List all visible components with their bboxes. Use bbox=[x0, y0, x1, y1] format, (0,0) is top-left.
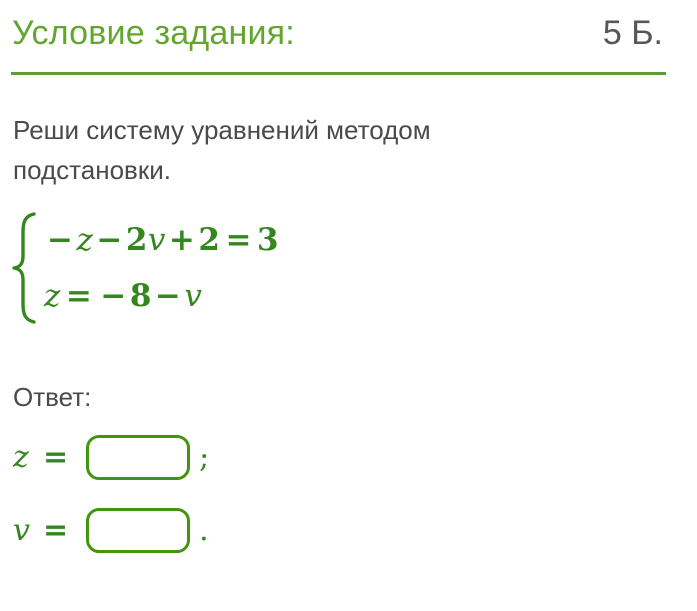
eq2-token-2: − bbox=[97, 278, 129, 314]
equation-rows: −z−2v+2=3 z=−8−v bbox=[44, 212, 279, 324]
eq2-token-5: v bbox=[184, 278, 202, 314]
answer-equals-v: = bbox=[43, 513, 68, 548]
answer-row-v: v = . bbox=[13, 506, 209, 554]
eq1-token-1: z bbox=[76, 222, 93, 258]
equation-system: −z−2v+2=3 z=−8−v bbox=[10, 212, 279, 324]
answer-label: Ответ: bbox=[13, 382, 91, 413]
eq1-token-3: 2 bbox=[126, 222, 148, 258]
answer-input-v[interactable] bbox=[86, 508, 190, 553]
eq1-token-4: v bbox=[148, 222, 166, 258]
answer-variable-z: z bbox=[13, 440, 39, 475]
eq1-token-2: − bbox=[93, 222, 125, 258]
header-divider bbox=[11, 72, 666, 75]
eq2-token-4: − bbox=[152, 278, 184, 314]
equation-line-2: z=−8−v bbox=[44, 268, 279, 324]
eq1-token-6: 2 bbox=[198, 222, 220, 258]
eq1-token-0: − bbox=[44, 222, 76, 258]
answer-punctuation-z: ; bbox=[199, 435, 209, 480]
question-text: Реши систему уравнений методом подстанов… bbox=[13, 110, 573, 190]
eq2-token-0: z bbox=[44, 278, 61, 314]
answer-input-z[interactable] bbox=[86, 435, 190, 480]
eq1-token-5: + bbox=[166, 222, 198, 258]
answer-variable-v: v bbox=[13, 513, 39, 548]
eq2-token-1: = bbox=[61, 278, 97, 314]
eq2-token-3: 8 bbox=[130, 278, 152, 314]
eq1-token-7: = bbox=[220, 222, 256, 258]
equation-line-1: −z−2v+2=3 bbox=[44, 212, 279, 268]
curly-brace-icon bbox=[10, 212, 40, 324]
exercise-header: Условие задания: 5 Б. bbox=[12, 14, 665, 62]
answer-equals-z: = bbox=[43, 440, 68, 475]
eq1-token-8: 3 bbox=[257, 222, 279, 258]
points-badge: 5 Б. bbox=[603, 14, 665, 53]
exercise-page: Условие задания: 5 Б. Реши систему уравн… bbox=[0, 0, 697, 611]
answer-punctuation-v: . bbox=[199, 508, 209, 553]
page-title: Условие задания: bbox=[12, 14, 295, 53]
answer-row-z: z = ; bbox=[13, 433, 209, 481]
